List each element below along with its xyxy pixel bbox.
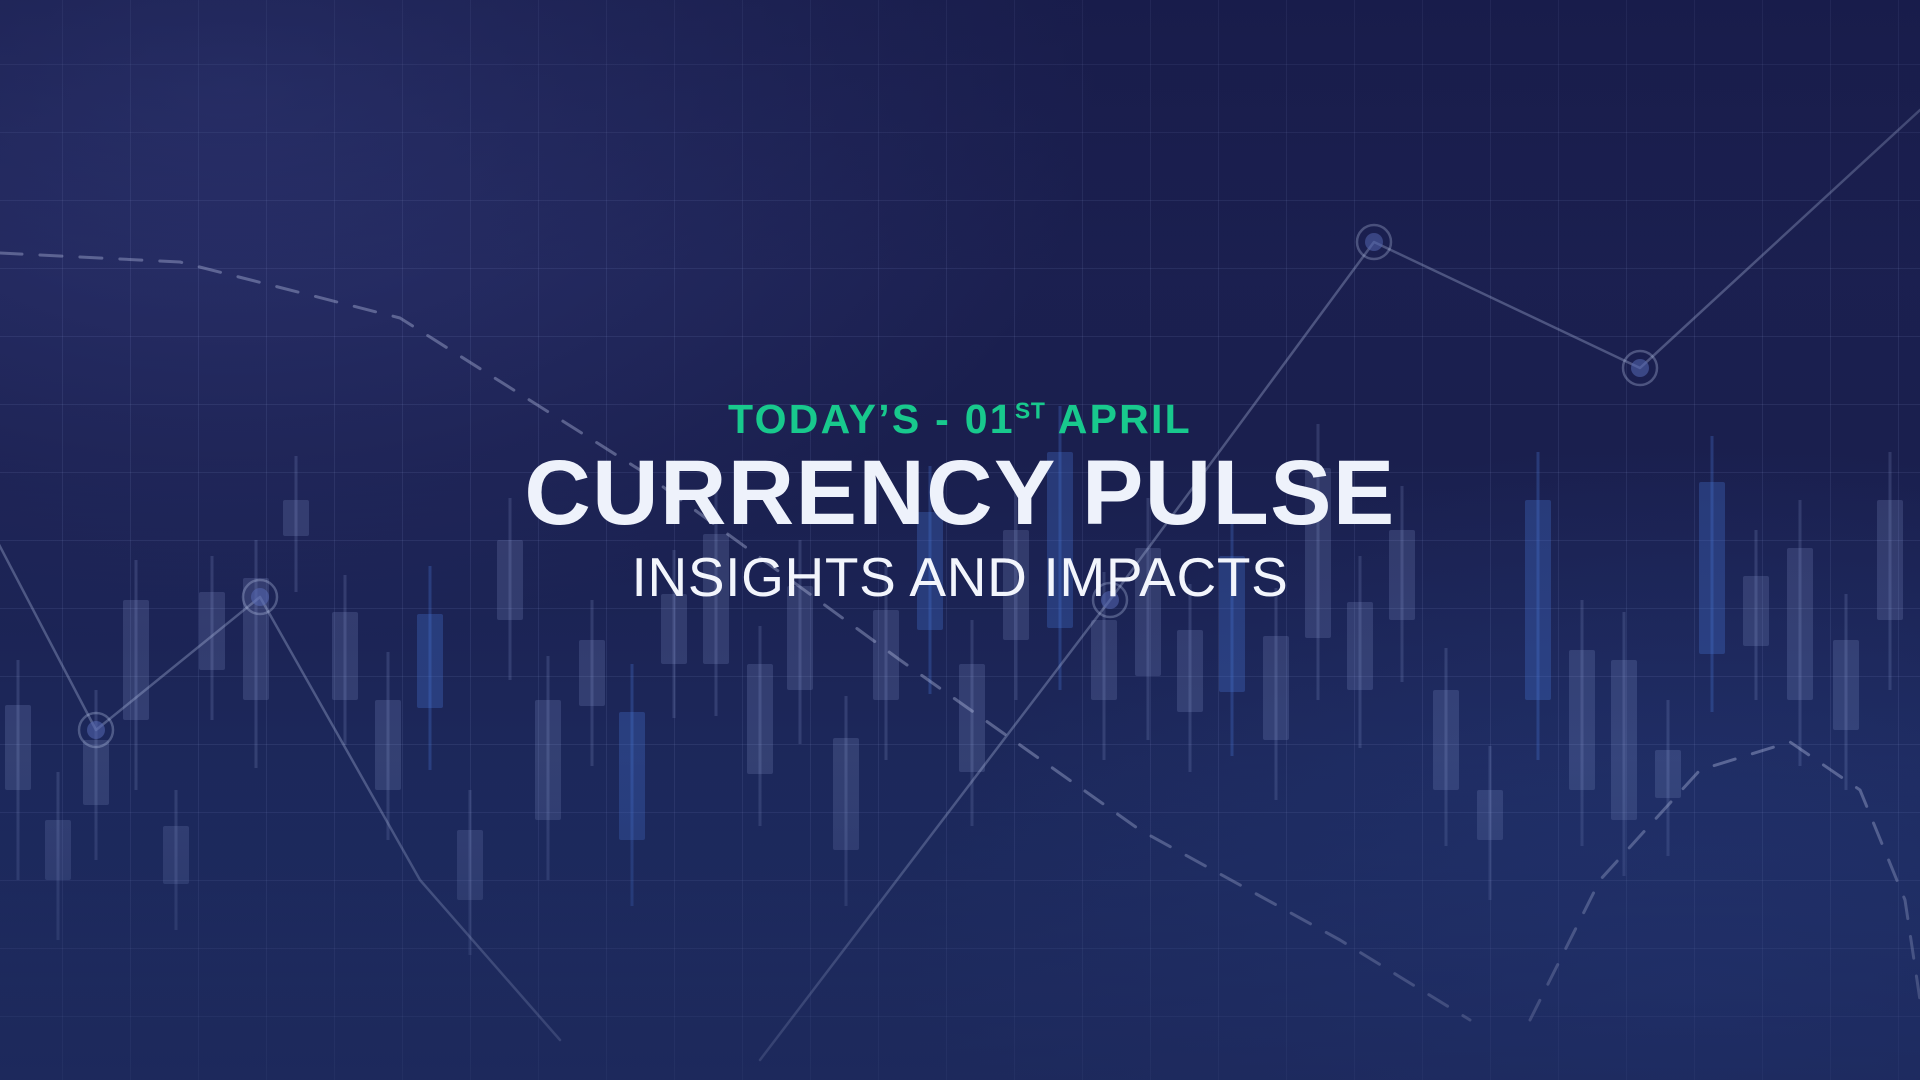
candle-body [1347, 602, 1373, 690]
poster-canvas: TODAY’S - 01ST APRIL CURRENCY PULSE INSI… [0, 0, 1920, 1080]
candle-body [1833, 640, 1859, 730]
candle-body [873, 610, 899, 700]
page-title: CURRENCY PULSE [0, 447, 1920, 539]
data-point-ring [1623, 351, 1657, 385]
candle-body [535, 700, 561, 820]
candle-wick [759, 626, 762, 826]
candle-body [83, 740, 109, 805]
candle-body [833, 738, 859, 850]
candle-body [123, 600, 149, 720]
candle-wick [387, 652, 390, 840]
candle-wick [175, 790, 178, 930]
candle-body [5, 705, 31, 790]
data-point-ring [79, 713, 113, 747]
eyebrow-month: APRIL [1046, 396, 1192, 442]
candle-wick [57, 772, 60, 940]
candle-body [959, 664, 985, 772]
candle-body [579, 640, 605, 706]
candle-body [1655, 750, 1681, 798]
eyebrow-ordinal-suffix: ST [1015, 397, 1046, 423]
candle-body [1433, 690, 1459, 790]
candle-wick [1581, 600, 1584, 846]
eyebrow-date: TODAY’S - 01ST APRIL [0, 398, 1920, 441]
data-point-dot [1365, 233, 1383, 251]
candle-body [1611, 660, 1637, 820]
candle-body [1091, 620, 1117, 700]
candle-body [1477, 790, 1503, 840]
candle-wick [95, 690, 98, 860]
candle-body [332, 612, 358, 700]
chart-series-line [1530, 742, 1920, 1020]
candle-body [45, 820, 71, 880]
data-point-dot [87, 721, 105, 739]
candle-wick [1275, 588, 1278, 800]
headline-block: TODAY’S - 01ST APRIL CURRENCY PULSE INSI… [0, 398, 1920, 607]
candle-wick [1445, 648, 1448, 846]
candle-body [1569, 650, 1595, 790]
candle-body [457, 830, 483, 900]
data-point-dot [1631, 359, 1649, 377]
candle-body [1177, 630, 1203, 712]
candle-body [747, 664, 773, 774]
candle-wick [1623, 612, 1626, 876]
candle-wick [469, 790, 472, 955]
candle-wick [547, 656, 550, 880]
candle-wick [1845, 594, 1848, 790]
candle-body [619, 712, 645, 840]
eyebrow-prefix: TODAY’S - 01 [728, 396, 1015, 442]
candle-body [417, 614, 443, 708]
candle-body [1263, 636, 1289, 740]
chart-series-line [0, 253, 1470, 1020]
candle-wick [971, 620, 974, 826]
page-subtitle: INSIGHTS AND IMPACTS [0, 549, 1920, 607]
candle-wick [1189, 584, 1192, 772]
candle-wick [1667, 700, 1670, 856]
candle-body [375, 700, 401, 790]
candle-wick [1489, 746, 1492, 900]
candle-body [163, 826, 189, 884]
data-point-ring [1357, 225, 1391, 259]
candle-wick [631, 664, 634, 906]
candle-wick [17, 660, 20, 880]
candle-wick [845, 696, 848, 906]
candle-wick [591, 600, 594, 766]
